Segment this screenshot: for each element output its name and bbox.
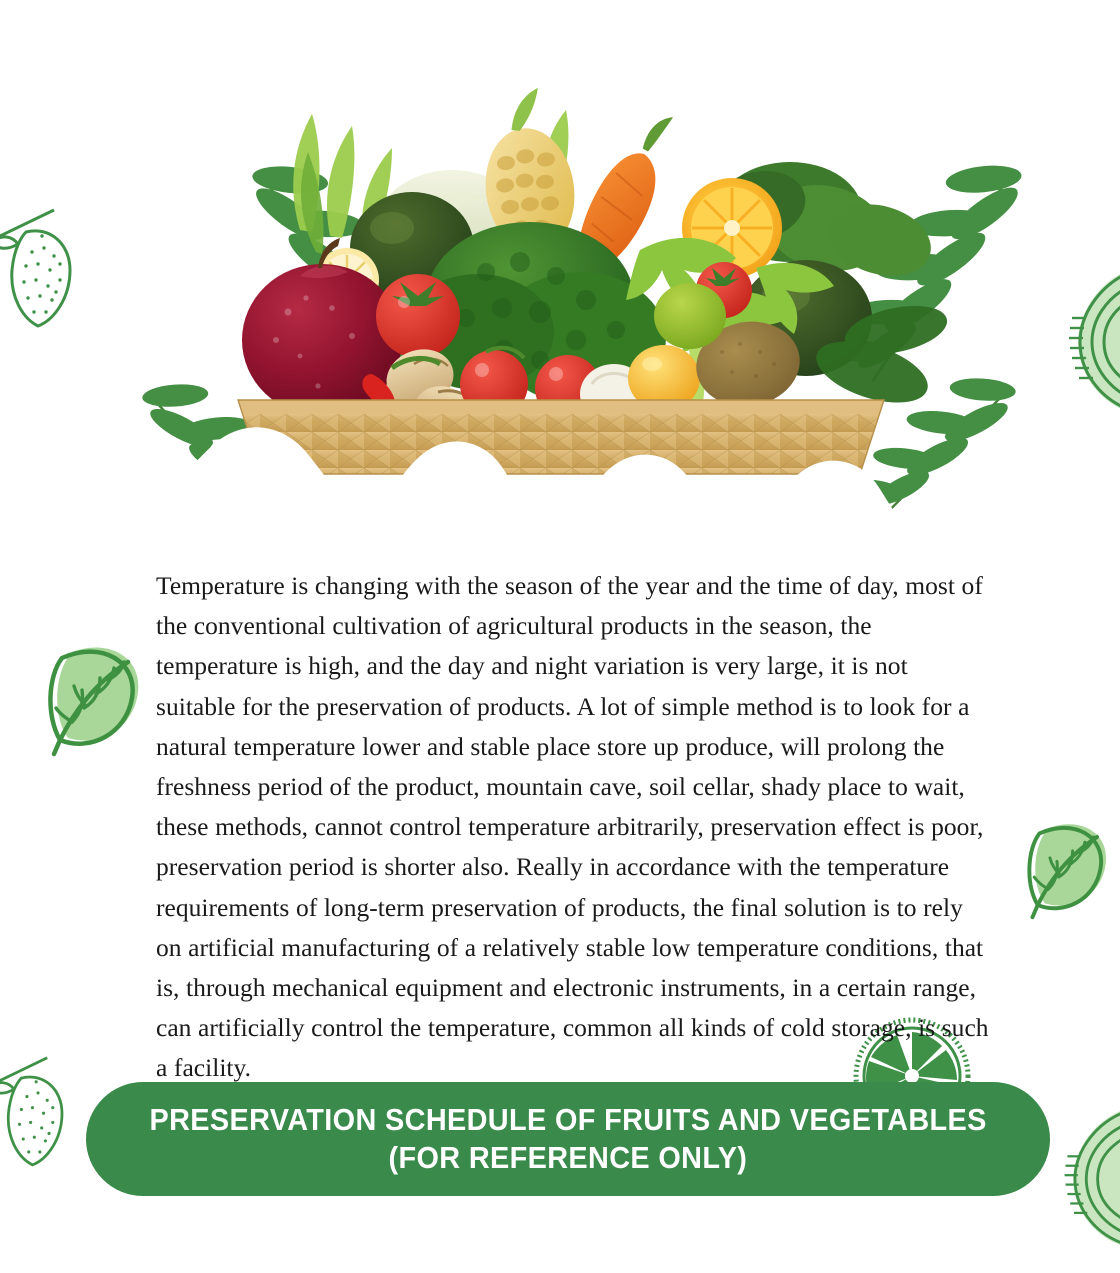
lime — [654, 283, 726, 349]
hero-illustration — [0, 0, 1120, 560]
leaf-icon — [1022, 802, 1118, 931]
poster-page: Temperature is changing with the season … — [0, 0, 1120, 1273]
banner-title-line-2: (FOR REFERENCE ONLY) — [389, 1139, 748, 1177]
watermelon-slice-icon — [1058, 1098, 1120, 1263]
article-paragraph: Temperature is changing with the season … — [156, 566, 992, 1089]
leaf-icon — [42, 628, 152, 763]
hero-image — [0, 0, 1120, 560]
tomato-upper — [376, 274, 460, 358]
article-body: Temperature is changing with the season … — [156, 566, 992, 1089]
banner-title-line-1: PRESERVATION SCHEDULE OF FRUITS AND VEGE… — [149, 1101, 986, 1139]
woven-basket — [238, 400, 884, 474]
section-banner[interactable]: PRESERVATION SCHEDULE OF FRUITS AND VEGE… — [86, 1082, 1050, 1196]
